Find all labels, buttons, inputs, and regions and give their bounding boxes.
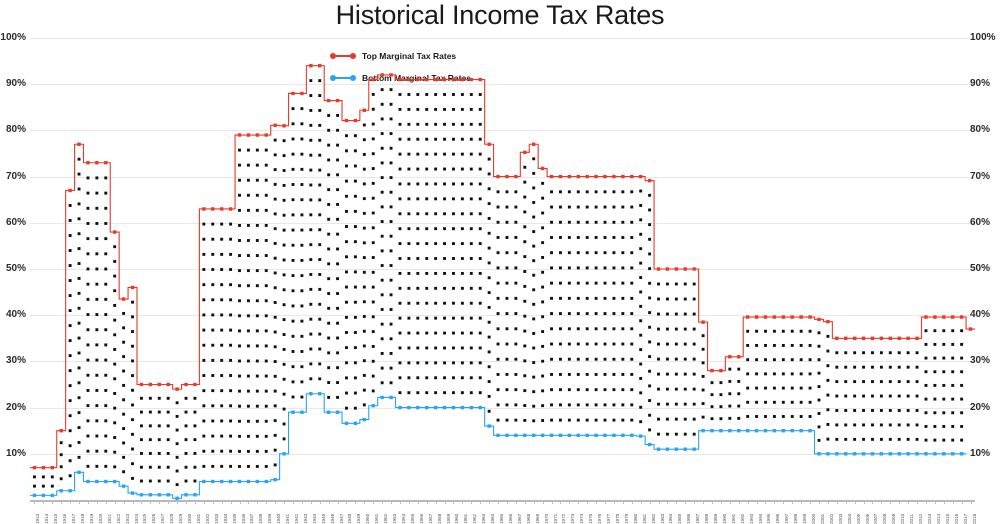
bracket-dot — [354, 301, 357, 304]
bracket-dot — [595, 373, 598, 376]
bracket-dot — [381, 381, 384, 384]
x-tick-label: 2016 — [955, 514, 960, 524]
bracket-dot — [309, 258, 312, 261]
x-tick-label: 1977 — [607, 514, 612, 524]
bracket-dot — [185, 480, 188, 483]
bracket-dot — [390, 103, 393, 106]
bracket-dot — [363, 345, 366, 348]
bottom-rate-point — [184, 493, 187, 496]
bracket-dots-layer — [33, 79, 963, 487]
x-tick-label: 1962 — [473, 514, 478, 524]
bracket-dot — [238, 224, 241, 227]
bracket-dot — [318, 258, 321, 261]
bracket-dot — [283, 348, 286, 351]
bracket-dot — [693, 298, 696, 301]
bracket-dot — [336, 396, 339, 399]
bracket-dot — [354, 255, 357, 258]
bracket-dot — [336, 203, 339, 206]
bracket-dot — [604, 236, 607, 239]
bracket-dot — [309, 94, 312, 97]
bracket-dot — [69, 234, 72, 237]
bracket-dot — [300, 122, 303, 125]
x-tick-label: 1943 — [304, 514, 309, 524]
bracket-dot — [381, 279, 384, 282]
bracket-dot — [621, 236, 624, 239]
bracket-dot — [95, 176, 98, 179]
bracket-dot — [87, 435, 90, 438]
x-tick-label: 1960 — [455, 514, 460, 524]
bracket-dot — [612, 373, 615, 376]
bracket-dot — [229, 329, 232, 332]
bracket-dot — [933, 370, 936, 373]
bracket-dot — [568, 327, 571, 330]
bracket-dot — [568, 388, 571, 391]
bracket-dot — [354, 331, 357, 334]
bracket-dot — [327, 366, 330, 369]
bottom-rate-point — [755, 429, 758, 432]
bracket-dot — [283, 408, 286, 411]
bottom-rate-point — [452, 406, 455, 409]
bracket-dot — [354, 361, 357, 364]
bracket-dot — [443, 361, 446, 364]
bracket-dot — [193, 424, 196, 427]
bracket-dot — [550, 297, 553, 300]
bracket-dot — [122, 427, 125, 430]
bracket-dot — [425, 212, 428, 215]
bracket-dot — [826, 423, 829, 426]
bracket-dot — [104, 435, 107, 438]
bracket-dot — [657, 328, 660, 331]
bracket-dot — [514, 388, 517, 391]
bracket-dot — [95, 389, 98, 392]
bracket-dot — [604, 297, 607, 300]
bracket-dot — [612, 236, 615, 239]
bottom-rate-point — [889, 452, 892, 455]
bracket-dot — [889, 380, 892, 383]
top-rate-point — [612, 175, 615, 178]
bracket-dot — [898, 366, 901, 369]
bracket-dot — [202, 374, 205, 377]
bracket-dot — [666, 358, 669, 361]
bracket-dot — [274, 404, 277, 407]
bracket-dot — [416, 391, 419, 394]
bracket-dot — [791, 372, 794, 375]
bracket-dot — [604, 373, 607, 376]
x-tick-label: 2004 — [848, 514, 853, 524]
bracket-dot — [639, 247, 642, 250]
bracket-dot — [292, 107, 295, 110]
bracket-dot — [372, 241, 375, 244]
bracket-dot — [390, 117, 393, 120]
bottom-rate-point — [585, 434, 588, 437]
bracket-dot — [336, 188, 339, 191]
bracket-dot — [381, 264, 384, 267]
bracket-dot — [479, 212, 482, 215]
bracket-dot — [220, 420, 223, 423]
bracket-dot — [452, 138, 455, 141]
bracket-dot — [425, 242, 428, 245]
top-rate-point — [68, 189, 71, 192]
bracket-dot — [648, 253, 651, 256]
bracket-dot — [122, 456, 125, 459]
bracket-dot — [238, 465, 241, 468]
bracket-dot — [523, 345, 526, 348]
bracket-dot — [506, 206, 509, 209]
bracket-dot — [488, 202, 491, 205]
bracket-dot — [666, 283, 669, 286]
bracket-dot — [372, 389, 375, 392]
bracket-dot — [586, 358, 589, 361]
bracket-dot — [211, 435, 214, 438]
bracket-dot — [684, 358, 687, 361]
bracket-dot — [381, 337, 384, 340]
bracket-dot — [309, 243, 312, 246]
bracket-dot — [407, 257, 410, 260]
bottom-rate-point — [300, 411, 303, 414]
bracket-dot — [345, 165, 348, 168]
bracket-dot — [693, 283, 696, 286]
bracket-dot — [309, 362, 312, 365]
bracket-dot — [425, 197, 428, 200]
bracket-dot — [292, 229, 295, 232]
bracket-dot — [381, 176, 384, 179]
bracket-dot — [95, 465, 98, 468]
bottom-rate-point — [826, 452, 829, 455]
bracket-dot — [826, 408, 829, 411]
x-tick-label: 1958 — [438, 514, 443, 524]
bracket-dot — [621, 282, 624, 285]
bottom-rate-point — [372, 404, 375, 407]
bracket-dot — [612, 419, 615, 422]
bottom-rate-point — [354, 422, 357, 425]
top-rate-point — [416, 78, 419, 81]
bracket-dot — [390, 308, 393, 311]
bracket-dot — [443, 272, 446, 275]
top-rate-point — [407, 78, 410, 81]
bracket-dot — [354, 134, 357, 137]
bracket-dot — [122, 470, 125, 473]
top-rate-point — [835, 337, 838, 340]
bracket-dot — [782, 401, 785, 404]
bracket-dot — [791, 401, 794, 404]
bracket-dot — [479, 376, 482, 379]
top-rate-point — [354, 119, 357, 122]
bracket-dot — [604, 190, 607, 193]
bracket-dot — [880, 351, 883, 354]
bracket-dot — [345, 225, 348, 228]
bracket-dot — [309, 139, 312, 142]
bracket-dot — [78, 396, 81, 399]
top-rate-point — [389, 73, 392, 76]
bracket-dot — [470, 212, 473, 215]
bracket-dot — [960, 411, 963, 414]
bracket-dot — [372, 360, 375, 363]
bracket-dot — [889, 423, 892, 426]
bottom-rate-point — [915, 452, 918, 455]
bracket-dot — [630, 327, 633, 330]
y-tick-label-left-40: 40% — [0, 310, 26, 320]
bracket-dot — [399, 108, 402, 111]
bracket-dot — [880, 409, 883, 412]
bracket-dot — [818, 331, 821, 334]
x-tick-label: 1916 — [63, 514, 68, 524]
bracket-dot — [122, 413, 125, 416]
bracket-dot — [229, 435, 232, 438]
bracket-dot — [818, 385, 821, 388]
x-tick-label: 1948 — [348, 514, 353, 524]
bracket-dot — [559, 327, 562, 330]
bracket-dot — [550, 312, 553, 315]
bracket-dot — [523, 330, 526, 333]
bottom-rate-point — [675, 447, 678, 450]
bracket-dot — [274, 139, 277, 142]
bracket-dot — [497, 343, 500, 346]
bracket-dot — [318, 228, 321, 231]
bracket-dot — [506, 343, 509, 346]
y-tick-label-right-80: 80% — [970, 125, 1000, 135]
bracket-dot — [942, 384, 945, 387]
bracket-dot — [381, 147, 384, 150]
bracket-dot — [773, 387, 776, 390]
bracket-dot — [318, 124, 321, 127]
bracket-dot — [185, 452, 188, 455]
bracket-dot — [363, 300, 366, 303]
bracket-dot — [925, 411, 928, 414]
bracket-dot — [479, 168, 482, 171]
bracket-dot — [149, 438, 152, 441]
bracket-dot — [612, 312, 615, 315]
bottom-rate-point — [541, 434, 544, 437]
bracket-dot — [648, 311, 651, 314]
bracket-dot — [381, 293, 384, 296]
bottom-rate-point — [309, 392, 312, 395]
bracket-dot — [648, 238, 651, 241]
bracket-dot — [719, 381, 722, 384]
bracket-dot — [942, 425, 945, 428]
top-rate-path — [30, 66, 975, 468]
bracket-dot — [336, 322, 339, 325]
bracket-dot — [193, 452, 196, 455]
bracket-dot — [479, 123, 482, 126]
x-tick-label: 2018 — [973, 514, 978, 524]
bracket-dot — [506, 358, 509, 361]
bracket-dot — [702, 402, 705, 405]
bottom-rate-point — [782, 429, 785, 432]
bracket-dot — [488, 380, 491, 383]
bracket-dot — [702, 389, 705, 392]
bracket-dot — [559, 343, 562, 346]
bracket-dot — [737, 368, 740, 371]
bottom-rate-point — [60, 489, 63, 492]
x-tick-label: 1988 — [705, 514, 710, 524]
bracket-dot — [185, 397, 188, 400]
bracket-dot — [497, 266, 500, 269]
bracket-dot — [853, 380, 856, 383]
bracket-dot — [407, 93, 410, 96]
bracket-dot — [238, 435, 241, 438]
bracket-dot — [318, 198, 321, 201]
bracket-dot — [87, 389, 90, 392]
bracket-dot — [407, 168, 410, 171]
bracket-dot — [78, 173, 81, 176]
bracket-dot — [541, 226, 544, 229]
bracket-dot — [443, 287, 446, 290]
bracket-dot — [354, 346, 357, 349]
bottom-rate-point — [265, 480, 268, 483]
bracket-dot — [140, 411, 143, 414]
bracket-dot — [407, 361, 410, 364]
bracket-dot — [506, 266, 509, 269]
bracket-dot — [809, 415, 812, 418]
bracket-dot — [648, 223, 651, 226]
bracket-dot — [265, 314, 268, 317]
bracket-dot — [283, 423, 286, 426]
bracket-dot — [559, 297, 562, 300]
top-rate-point — [166, 383, 169, 386]
bracket-dot — [407, 376, 410, 379]
bracket-dot — [193, 411, 196, 414]
top-rate-point — [871, 337, 874, 340]
bracket-dot — [844, 423, 847, 426]
bracket-dot — [104, 298, 107, 301]
bracket-dot — [434, 138, 437, 141]
bottom-rate-point — [550, 434, 553, 437]
bracket-dot — [648, 194, 651, 197]
bracket-dot — [78, 232, 81, 235]
bracket-dot — [826, 335, 829, 338]
top-rate-point — [452, 78, 455, 81]
bracket-dot — [862, 423, 865, 426]
top-rate-point — [853, 337, 856, 340]
bracket-dot — [942, 329, 945, 332]
bracket-dot — [488, 217, 491, 220]
bracket-dot — [104, 359, 107, 362]
bracket-dot — [95, 298, 98, 301]
x-tick-label: 1998 — [794, 514, 799, 524]
bracket-dot — [390, 323, 393, 326]
bracket-dot — [541, 345, 544, 348]
top-rate-point — [327, 99, 330, 102]
bracket-dot — [363, 227, 366, 230]
bracket-dot — [550, 282, 553, 285]
bracket-dot — [434, 183, 437, 186]
bracket-dot — [87, 359, 90, 362]
bracket-dot — [104, 252, 107, 255]
chart-page: Historical Income Tax Rates Top Marginal… — [0, 0, 1000, 524]
bracket-dot — [256, 164, 259, 167]
x-tick-label: 2012 — [919, 514, 924, 524]
bracket-dot — [506, 312, 509, 315]
x-tick-label: 1983 — [661, 514, 666, 524]
bracket-dot — [675, 313, 678, 316]
bracket-dot — [69, 429, 72, 432]
bracket-dot — [639, 377, 642, 380]
bottom-rate-point — [621, 434, 624, 437]
top-rate-point — [193, 383, 196, 386]
bracket-dot — [283, 273, 286, 276]
bracket-dot — [434, 242, 437, 245]
bracket-dot — [176, 401, 179, 404]
x-tick-label: 2008 — [883, 514, 888, 524]
bracket-dot — [390, 279, 393, 282]
bracket-dot — [497, 358, 500, 361]
x-tick-label: 1914 — [45, 514, 50, 524]
top-rate-point — [300, 92, 303, 95]
bracket-dot — [69, 339, 72, 342]
bracket-dot — [256, 465, 259, 468]
bracket-dot — [497, 236, 500, 239]
bracket-dot — [238, 269, 241, 272]
bracket-dot — [336, 144, 339, 147]
bracket-dot — [327, 159, 330, 162]
bracket-dot — [87, 252, 90, 255]
bracket-dot — [461, 123, 464, 126]
bracket-dot — [140, 424, 143, 427]
top-rate-point — [951, 315, 954, 318]
bracket-dot — [764, 330, 767, 333]
bracket-dot — [113, 245, 116, 248]
bracket-dot — [104, 237, 107, 240]
bracket-dot — [425, 287, 428, 290]
bracket-dot — [479, 302, 482, 305]
bracket-dot — [78, 322, 81, 325]
bracket-dot — [416, 302, 419, 305]
bracket-dot — [274, 227, 277, 230]
bracket-dot — [327, 337, 330, 340]
bracket-dot — [78, 202, 81, 205]
bracket-dot — [381, 249, 384, 252]
bracket-dot — [604, 221, 607, 224]
bracket-dot — [684, 388, 687, 391]
bracket-dot — [78, 337, 81, 340]
bracket-dot — [69, 294, 72, 297]
bracket-dot — [274, 272, 277, 275]
bottom-rate-point — [577, 434, 580, 437]
bracket-dot — [461, 227, 464, 230]
top-rate-point — [220, 207, 223, 210]
x-tick-label: 1952 — [384, 514, 389, 524]
bracket-dot — [238, 254, 241, 257]
bracket-dot — [416, 93, 419, 96]
bracket-dot — [630, 266, 633, 269]
bracket-dot — [595, 266, 598, 269]
bracket-dot — [889, 351, 892, 354]
bottom-rate-point — [568, 434, 571, 437]
bracket-dot — [853, 423, 856, 426]
bracket-dot — [960, 425, 963, 428]
bracket-dot — [274, 316, 277, 319]
bracket-dot — [434, 257, 437, 260]
x-tick-label: 1979 — [625, 514, 630, 524]
bracket-dot — [951, 411, 954, 414]
bracket-dot — [604, 403, 607, 406]
bracket-dot — [87, 419, 90, 422]
x-tick-label: 1939 — [268, 514, 273, 524]
bracket-dot — [69, 219, 72, 222]
bracket-dot — [568, 251, 571, 254]
bracket-dot — [238, 360, 241, 363]
bracket-dot — [497, 190, 500, 193]
bracket-dot — [773, 415, 776, 418]
bracket-dot — [274, 153, 277, 156]
bracket-dot — [604, 419, 607, 422]
bracket-dot — [318, 79, 321, 82]
bracket-dot — [265, 254, 268, 257]
bracket-dot — [630, 419, 633, 422]
top-rate-point — [238, 133, 241, 136]
bracket-dot — [461, 257, 464, 260]
bottom-rate-point — [942, 452, 945, 455]
